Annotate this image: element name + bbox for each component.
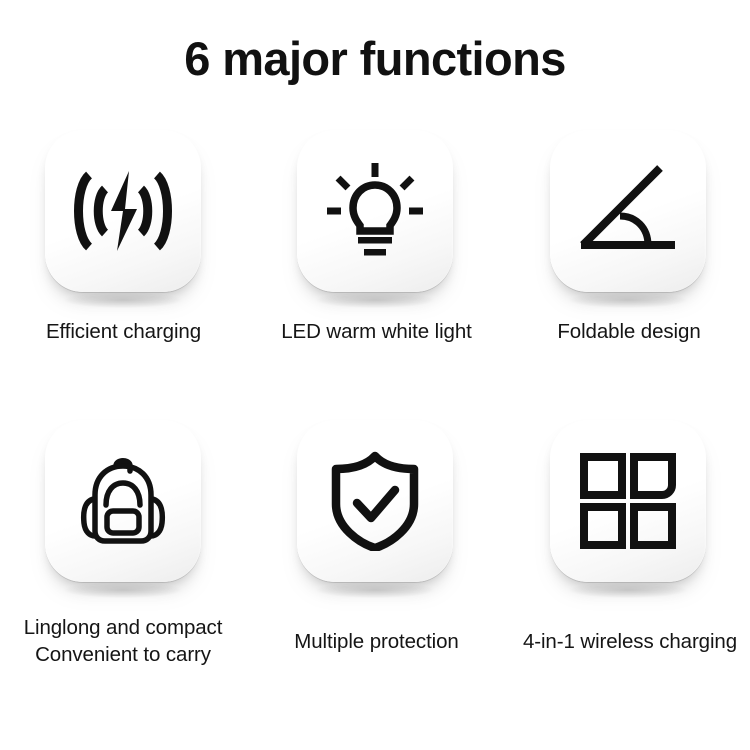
feature-card[interactable] — [45, 420, 201, 582]
feature-label-line1: Linglong and compact — [24, 616, 223, 639]
feature-highlights-page: 6 major functions — [0, 0, 750, 750]
feature-label: Multiple protection — [294, 628, 458, 655]
feature-label: Efficient charging — [46, 318, 201, 345]
light-bulb-icon — [321, 157, 429, 265]
feature-label: 4-in-1 wireless charging — [523, 628, 737, 655]
feature-item-led-warm-white-light[interactable]: LED warm white light — [250, 130, 500, 345]
four-squares-grid-icon — [574, 447, 682, 555]
feature-label-line1: Foldable design — [557, 320, 700, 343]
feature-card[interactable] — [45, 130, 201, 292]
feature-row-2: Linglong and compact Convenient to carry… — [0, 420, 750, 720]
feature-item-efficient-charging[interactable]: Efficient charging — [0, 130, 250, 345]
feature-item-4-in-1-wireless-charging[interactable]: 4-in-1 wireless charging — [500, 420, 750, 655]
feature-label-line2: Convenient to carry — [24, 641, 223, 668]
feature-card[interactable] — [297, 130, 453, 292]
feature-card[interactable] — [550, 130, 706, 292]
feature-item-linglong-and-compact[interactable]: Linglong and compact Convenient to carry — [0, 420, 250, 668]
feature-row-1: Efficient charging — [0, 130, 750, 420]
feature-label: LED warm white light — [281, 318, 472, 345]
feature-grid: Efficient charging — [0, 130, 750, 720]
feature-item-multiple-protection[interactable]: Multiple protection — [250, 420, 500, 655]
feature-item-foldable-design[interactable]: Foldable design — [500, 130, 750, 345]
wireless-charging-icon — [69, 157, 177, 265]
feature-label-line1: Multiple protection — [294, 630, 458, 653]
feature-label-line1: 4-in-1 wireless charging — [523, 630, 737, 653]
feature-card[interactable] — [297, 420, 453, 582]
shield-check-icon — [321, 447, 429, 555]
page-title: 6 major functions — [0, 33, 750, 85]
angle-foldable-icon — [574, 157, 682, 265]
feature-label-line1: Efficient charging — [46, 320, 201, 343]
feature-label: Linglong and compact Convenient to carry — [24, 614, 223, 668]
feature-card[interactable] — [550, 420, 706, 582]
backpack-icon — [69, 447, 177, 555]
feature-label: Foldable design — [557, 318, 700, 345]
feature-label-line1: LED warm white light — [281, 320, 472, 343]
